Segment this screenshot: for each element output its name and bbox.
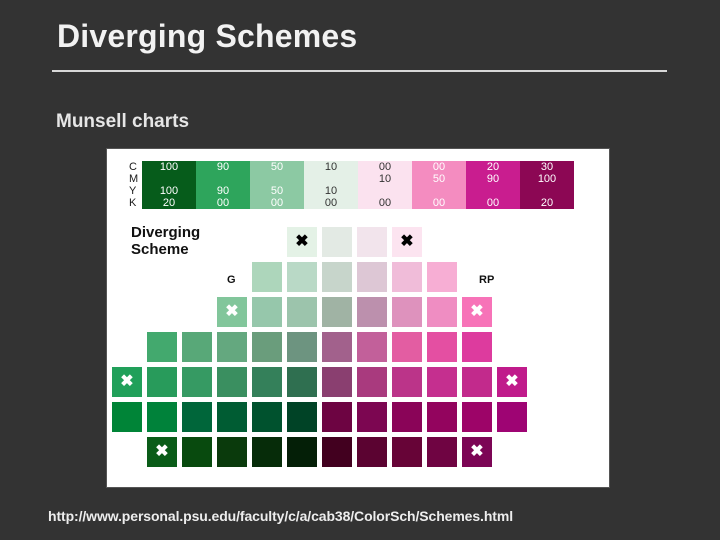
cmyk-value-k-col8: 20 xyxy=(520,197,574,209)
munsell-swatch-r3c7[interactable] xyxy=(427,297,457,327)
selected-x-icon: ✖ xyxy=(497,367,527,397)
munsell-swatch-r1c2[interactable] xyxy=(322,227,352,257)
cmyk-value-c-col6: 00 xyxy=(412,161,466,173)
munsell-row-7: ✖✖ xyxy=(147,437,492,467)
munsell-swatch-r6c6[interactable] xyxy=(287,402,317,432)
cmyk-value-m-col7: 90 xyxy=(466,173,520,185)
munsell-swatch-r6c12[interactable] xyxy=(497,402,527,432)
munsell-row-2 xyxy=(252,262,457,292)
munsell-swatch-r6c2[interactable] xyxy=(147,402,177,432)
munsell-swatch-r6c10[interactable] xyxy=(427,402,457,432)
cmyk-column-8: 3010020 xyxy=(520,161,574,209)
munsell-swatch-r6c11[interactable] xyxy=(462,402,492,432)
cmyk-column-6: 005000 xyxy=(412,161,466,209)
munsell-swatch-r7c7[interactable] xyxy=(357,437,387,467)
munsell-swatch-r3c6[interactable] xyxy=(392,297,422,327)
selected-x-icon: ✖ xyxy=(112,367,142,397)
selected-x-icon: ✖ xyxy=(217,297,247,327)
munsell-swatch-r3c5[interactable] xyxy=(357,297,387,327)
source-url: http://www.personal.psu.edu/faculty/c/a/… xyxy=(48,508,513,524)
munsell-swatch-r2c2[interactable] xyxy=(287,262,317,292)
cmyk-value-k-col7: 00 xyxy=(466,197,520,209)
munsell-swatch-r5c8[interactable] xyxy=(357,367,387,397)
munsell-swatch-r1c3[interactable] xyxy=(357,227,387,257)
cmyk-value-k-col5: 00 xyxy=(358,197,412,209)
cmyk-value-y-col4: 10 xyxy=(304,185,358,197)
munsell-swatch-r3c8[interactable]: ✖ xyxy=(462,297,492,327)
cmyk-value-k-col2: 00 xyxy=(196,197,250,209)
hue-label-redpurple: RP xyxy=(479,274,494,286)
munsell-swatch-r6c7[interactable] xyxy=(322,402,352,432)
cmyk-value-c-col1: 100 xyxy=(142,161,196,173)
munsell-swatch-r3c2[interactable] xyxy=(252,297,282,327)
munsell-swatch-r2c5[interactable] xyxy=(392,262,422,292)
munsell-swatch-r4c9[interactable] xyxy=(427,332,457,362)
cmyk-label-k: K xyxy=(129,197,142,209)
cmyk-column-5: 001000 xyxy=(358,161,412,209)
cmyk-value-k-col3: 00 xyxy=(250,197,304,209)
cmyk-value-y-col2: 90 xyxy=(196,185,250,197)
munsell-swatch-r4c6[interactable] xyxy=(322,332,352,362)
munsell-swatch-r3c1[interactable]: ✖ xyxy=(217,297,247,327)
selected-x-icon: ✖ xyxy=(462,297,492,327)
munsell-swatch-r5c4[interactable] xyxy=(217,367,247,397)
cmyk-column-2: 909000 xyxy=(196,161,250,209)
munsell-swatch-r1c4[interactable]: ✖ xyxy=(392,227,422,257)
cmyk-value-c-col8: 30 xyxy=(520,161,574,173)
munsell-swatch-r4c4[interactable] xyxy=(252,332,282,362)
munsell-swatch-r5c3[interactable] xyxy=(182,367,212,397)
cmyk-columns: 1001002090900050500010100000100000500020… xyxy=(142,161,574,209)
munsell-swatch-r4c1[interactable] xyxy=(147,332,177,362)
selected-x-icon: ✖ xyxy=(392,227,422,257)
munsell-swatch-r4c7[interactable] xyxy=(357,332,387,362)
munsell-swatch-r3c3[interactable] xyxy=(287,297,317,327)
cmyk-column-4: 101000 xyxy=(304,161,358,209)
munsell-swatch-r4c5[interactable] xyxy=(287,332,317,362)
cmyk-value-k-col1: 20 xyxy=(142,197,196,209)
cmyk-value-m-col6: 50 xyxy=(412,173,466,185)
munsell-swatch-r2c3[interactable] xyxy=(322,262,352,292)
munsell-swatch-r2c6[interactable] xyxy=(427,262,457,292)
page-title: Diverging Schemes xyxy=(57,18,357,55)
title-divider xyxy=(52,70,667,72)
munsell-swatch-r7c5[interactable] xyxy=(287,437,317,467)
munsell-swatch-r7c9[interactable] xyxy=(427,437,457,467)
munsell-swatch-r1c1[interactable]: ✖ xyxy=(287,227,317,257)
munsell-swatch-r5c10[interactable] xyxy=(427,367,457,397)
munsell-swatch-r5c5[interactable] xyxy=(252,367,282,397)
munsell-swatch-r5c6[interactable] xyxy=(287,367,317,397)
munsell-swatch-r6c3[interactable] xyxy=(182,402,212,432)
munsell-row-6 xyxy=(112,402,527,432)
cmyk-value-k-col6: 00 xyxy=(412,197,466,209)
munsell-swatch-r6c5[interactable] xyxy=(252,402,282,432)
munsell-swatch-r7c6[interactable] xyxy=(322,437,352,467)
caption-line-1: Diverging xyxy=(131,224,200,241)
munsell-swatch-r3c4[interactable] xyxy=(322,297,352,327)
munsell-swatch-r5c12[interactable]: ✖ xyxy=(497,367,527,397)
hue-label-green: G xyxy=(227,274,236,286)
selected-x-icon: ✖ xyxy=(147,437,177,467)
munsell-swatch-r7c1[interactable]: ✖ xyxy=(147,437,177,467)
munsell-swatch-r5c7[interactable] xyxy=(322,367,352,397)
munsell-row-5: ✖✖ xyxy=(112,367,527,397)
munsell-swatch-r2c1[interactable] xyxy=(252,262,282,292)
munsell-swatch-r7c8[interactable] xyxy=(392,437,422,467)
munsell-swatch-r5c9[interactable] xyxy=(392,367,422,397)
munsell-swatch-r4c3[interactable] xyxy=(217,332,247,362)
cmyk-value-c-col5: 00 xyxy=(358,161,412,173)
munsell-swatch-r7c10[interactable]: ✖ xyxy=(462,437,492,467)
munsell-swatch-r5c1[interactable]: ✖ xyxy=(112,367,142,397)
cmyk-value-c-col4: 10 xyxy=(304,161,358,173)
munsell-swatch-r4c10[interactable] xyxy=(462,332,492,362)
munsell-swatch-r7c4[interactable] xyxy=(252,437,282,467)
cmyk-column-1: 10010020 xyxy=(142,161,196,209)
diverging-scheme-caption: Diverging Scheme xyxy=(131,224,200,258)
munsell-swatch-r4c2[interactable] xyxy=(182,332,212,362)
cmyk-column-7: 209000 xyxy=(466,161,520,209)
cmyk-value-m-col5: 10 xyxy=(358,173,412,185)
selected-x-icon: ✖ xyxy=(462,437,492,467)
munsell-swatch-r2c4[interactable] xyxy=(357,262,387,292)
cmyk-table: C M Y K 10010020909000505000101000001000… xyxy=(129,161,574,209)
cmyk-axis-labels: C M Y K xyxy=(129,161,142,209)
munsell-swatch-r6c9[interactable] xyxy=(392,402,422,432)
munsell-swatch-r7c2[interactable] xyxy=(182,437,212,467)
munsell-row-4 xyxy=(147,332,492,362)
cmyk-value-c-col7: 20 xyxy=(466,161,520,173)
munsell-swatch-r6c8[interactable] xyxy=(357,402,387,432)
munsell-row-3: ✖✖ xyxy=(217,297,492,327)
munsell-row-1: ✖✖ xyxy=(287,227,422,257)
cmyk-label-c: C xyxy=(129,161,142,173)
cmyk-label-y: Y xyxy=(129,185,142,197)
munsell-swatch-r6c1[interactable] xyxy=(112,402,142,432)
selected-x-icon: ✖ xyxy=(287,227,317,257)
cmyk-value-y-col3: 50 xyxy=(250,185,304,197)
cmyk-value-c-col2: 90 xyxy=(196,161,250,173)
cmyk-value-m-col8: 100 xyxy=(520,173,574,185)
cmyk-value-k-col4: 00 xyxy=(304,197,358,209)
slide-canvas: Diverging Schemes Munsell charts C M Y K… xyxy=(0,0,720,540)
caption-line-2: Scheme xyxy=(131,241,200,258)
munsell-swatch-r5c2[interactable] xyxy=(147,367,177,397)
munsell-swatch-r4c8[interactable] xyxy=(392,332,422,362)
munsell-swatch-r7c3[interactable] xyxy=(217,437,247,467)
figure-panel: C M Y K 10010020909000505000101000001000… xyxy=(106,148,610,488)
section-subtitle: Munsell charts xyxy=(56,111,189,133)
cmyk-value-c-col3: 50 xyxy=(250,161,304,173)
cmyk-column-3: 505000 xyxy=(250,161,304,209)
cmyk-label-m: M xyxy=(129,173,142,185)
cmyk-value-y-col1: 100 xyxy=(142,185,196,197)
munsell-swatch-r6c4[interactable] xyxy=(217,402,247,432)
munsell-swatch-r5c11[interactable] xyxy=(462,367,492,397)
